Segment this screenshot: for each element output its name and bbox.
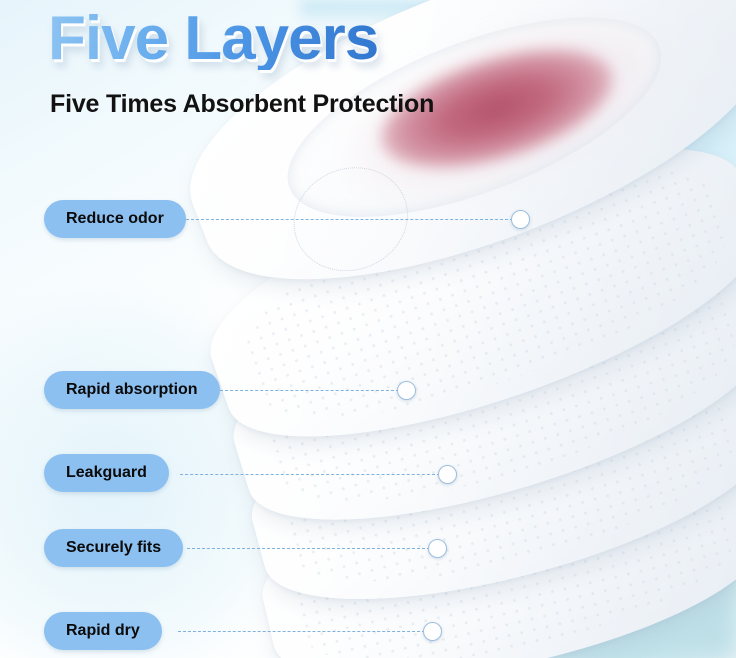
leader-line-rapid-absorption (220, 390, 404, 391)
page-subtitle: Five Times Absorbent Protection (50, 90, 434, 119)
five-layers-infographic: Five Layers Five Times Absorbent Protect… (0, 0, 736, 658)
callout-node-leakguard[interactable] (438, 465, 457, 484)
callout-pill-securely-fits[interactable]: Securely fits (44, 529, 183, 567)
callout-node-securely-fits[interactable] (428, 539, 447, 558)
callout-pill-leakguard[interactable]: Leakguard (44, 454, 169, 492)
callout-node-rapid-dry[interactable] (423, 622, 442, 641)
background-bottom-tint (486, 528, 736, 658)
callout-pill-rapid-dry[interactable]: Rapid dry (44, 612, 162, 650)
leader-line-reduce-odor (186, 219, 518, 220)
callout-pill-rapid-absorption[interactable]: Rapid absorption (44, 371, 220, 409)
callout-node-rapid-absorption[interactable] (397, 381, 416, 400)
callout-pill-reduce-odor[interactable]: Reduce odor (44, 200, 186, 238)
page-title: Five Layers (48, 8, 378, 70)
leader-line-securely-fits (187, 548, 435, 549)
callout-node-reduce-odor[interactable] (511, 210, 530, 229)
leader-line-rapid-dry (178, 631, 430, 632)
leader-line-leakguard (180, 474, 445, 475)
